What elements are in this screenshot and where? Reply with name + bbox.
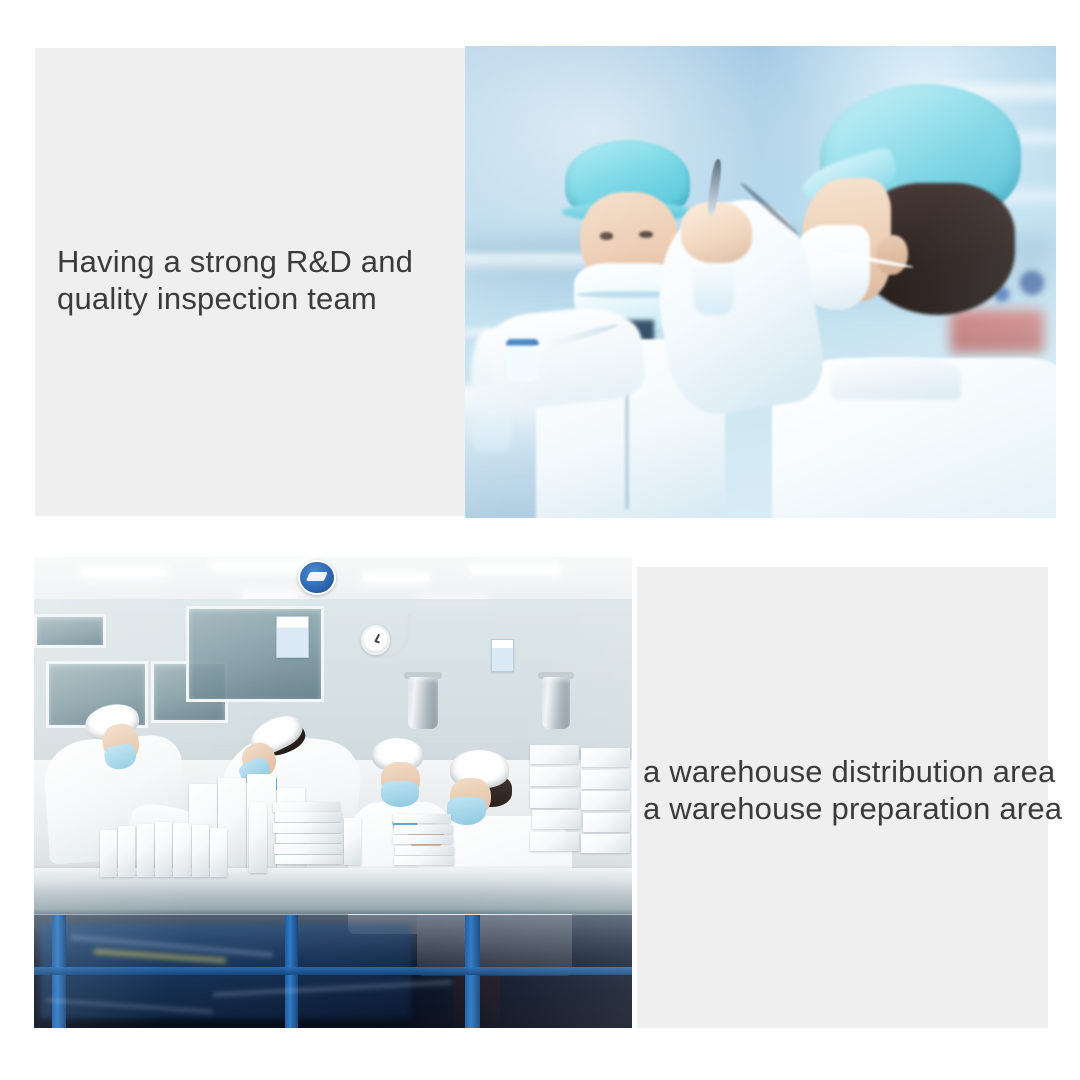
warehouse-photo-sheen bbox=[34, 557, 632, 1028]
caption-rnd-line-2: quality inspection team bbox=[57, 280, 413, 317]
caption-rnd: Having a strong R&D and quality inspecti… bbox=[57, 243, 413, 317]
caption-warehouse-line-2: a warehouse preparation area bbox=[643, 790, 1062, 827]
caption-rnd-line-1: Having a strong R&D and bbox=[57, 243, 413, 280]
lab-photo-sheen bbox=[465, 46, 1056, 518]
laboratory-inspection-photo bbox=[465, 46, 1056, 518]
caption-warehouse-line-1: a warehouse distribution area bbox=[643, 753, 1062, 790]
warehouse-packing-photo bbox=[34, 557, 632, 1028]
banner-canvas: Having a strong R&D and quality inspecti… bbox=[0, 0, 1080, 1080]
caption-warehouse: a warehouse distribution area a warehous… bbox=[643, 753, 1062, 827]
